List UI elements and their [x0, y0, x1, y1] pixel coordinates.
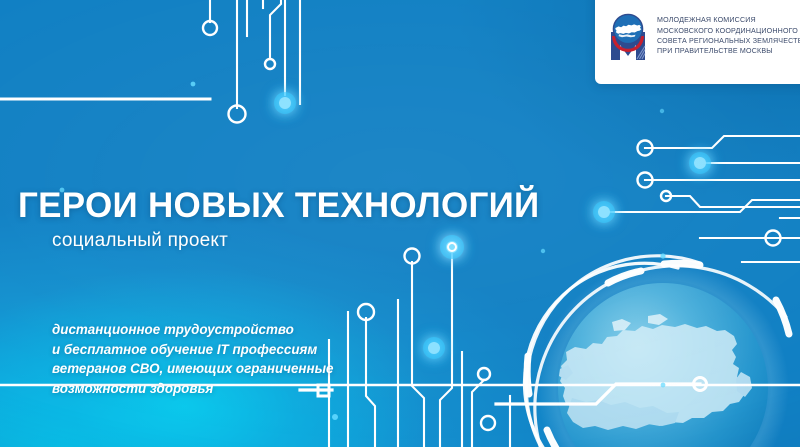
logo-line-4: ПРИ ПРАВИТЕЛЬСТВЕ МОСКВЫ [657, 47, 800, 56]
description-line-2: и бесплатное обучение IT профессиям [52, 340, 333, 360]
organization-logo-text: МОЛОДЕЖНАЯ КОМИССИЯ МОСКОВСКОГО КООРДИНА… [657, 15, 800, 56]
logo-line-1: МОЛОДЕЖНАЯ КОМИССИЯ [657, 16, 800, 25]
page-title: ГЕРОИ НОВЫХ ТЕХНОЛОГИЙ [18, 186, 540, 226]
description-line-1: дистанционное трудоустройство [52, 320, 333, 340]
description-line-3: ветеранов СВО, имеющих ограниченные [52, 359, 333, 379]
logo-line-2: МОСКОВСКОГО КООРДИНАЦИОННОГО [657, 27, 800, 36]
organization-logo-panel: МОЛОДЕЖНАЯ КОМИССИЯ МОСКОВСКОГО КООРДИНА… [595, 0, 800, 84]
mkszm-emblem-icon [607, 12, 649, 60]
poster-canvas: МОЛОДЕЖНАЯ КОМИССИЯ МОСКОВСКОГО КООРДИНА… [0, 0, 800, 447]
logo-line-3: СОВЕТА РЕГИОНАЛЬНЫХ ЗЕМЛЯЧЕСТВ [657, 37, 800, 46]
description-line-4: возможности здоровья [52, 379, 333, 399]
project-description: дистанционное трудоустройство и бесплатн… [52, 320, 333, 398]
page-subtitle: социальный проект [52, 230, 228, 252]
